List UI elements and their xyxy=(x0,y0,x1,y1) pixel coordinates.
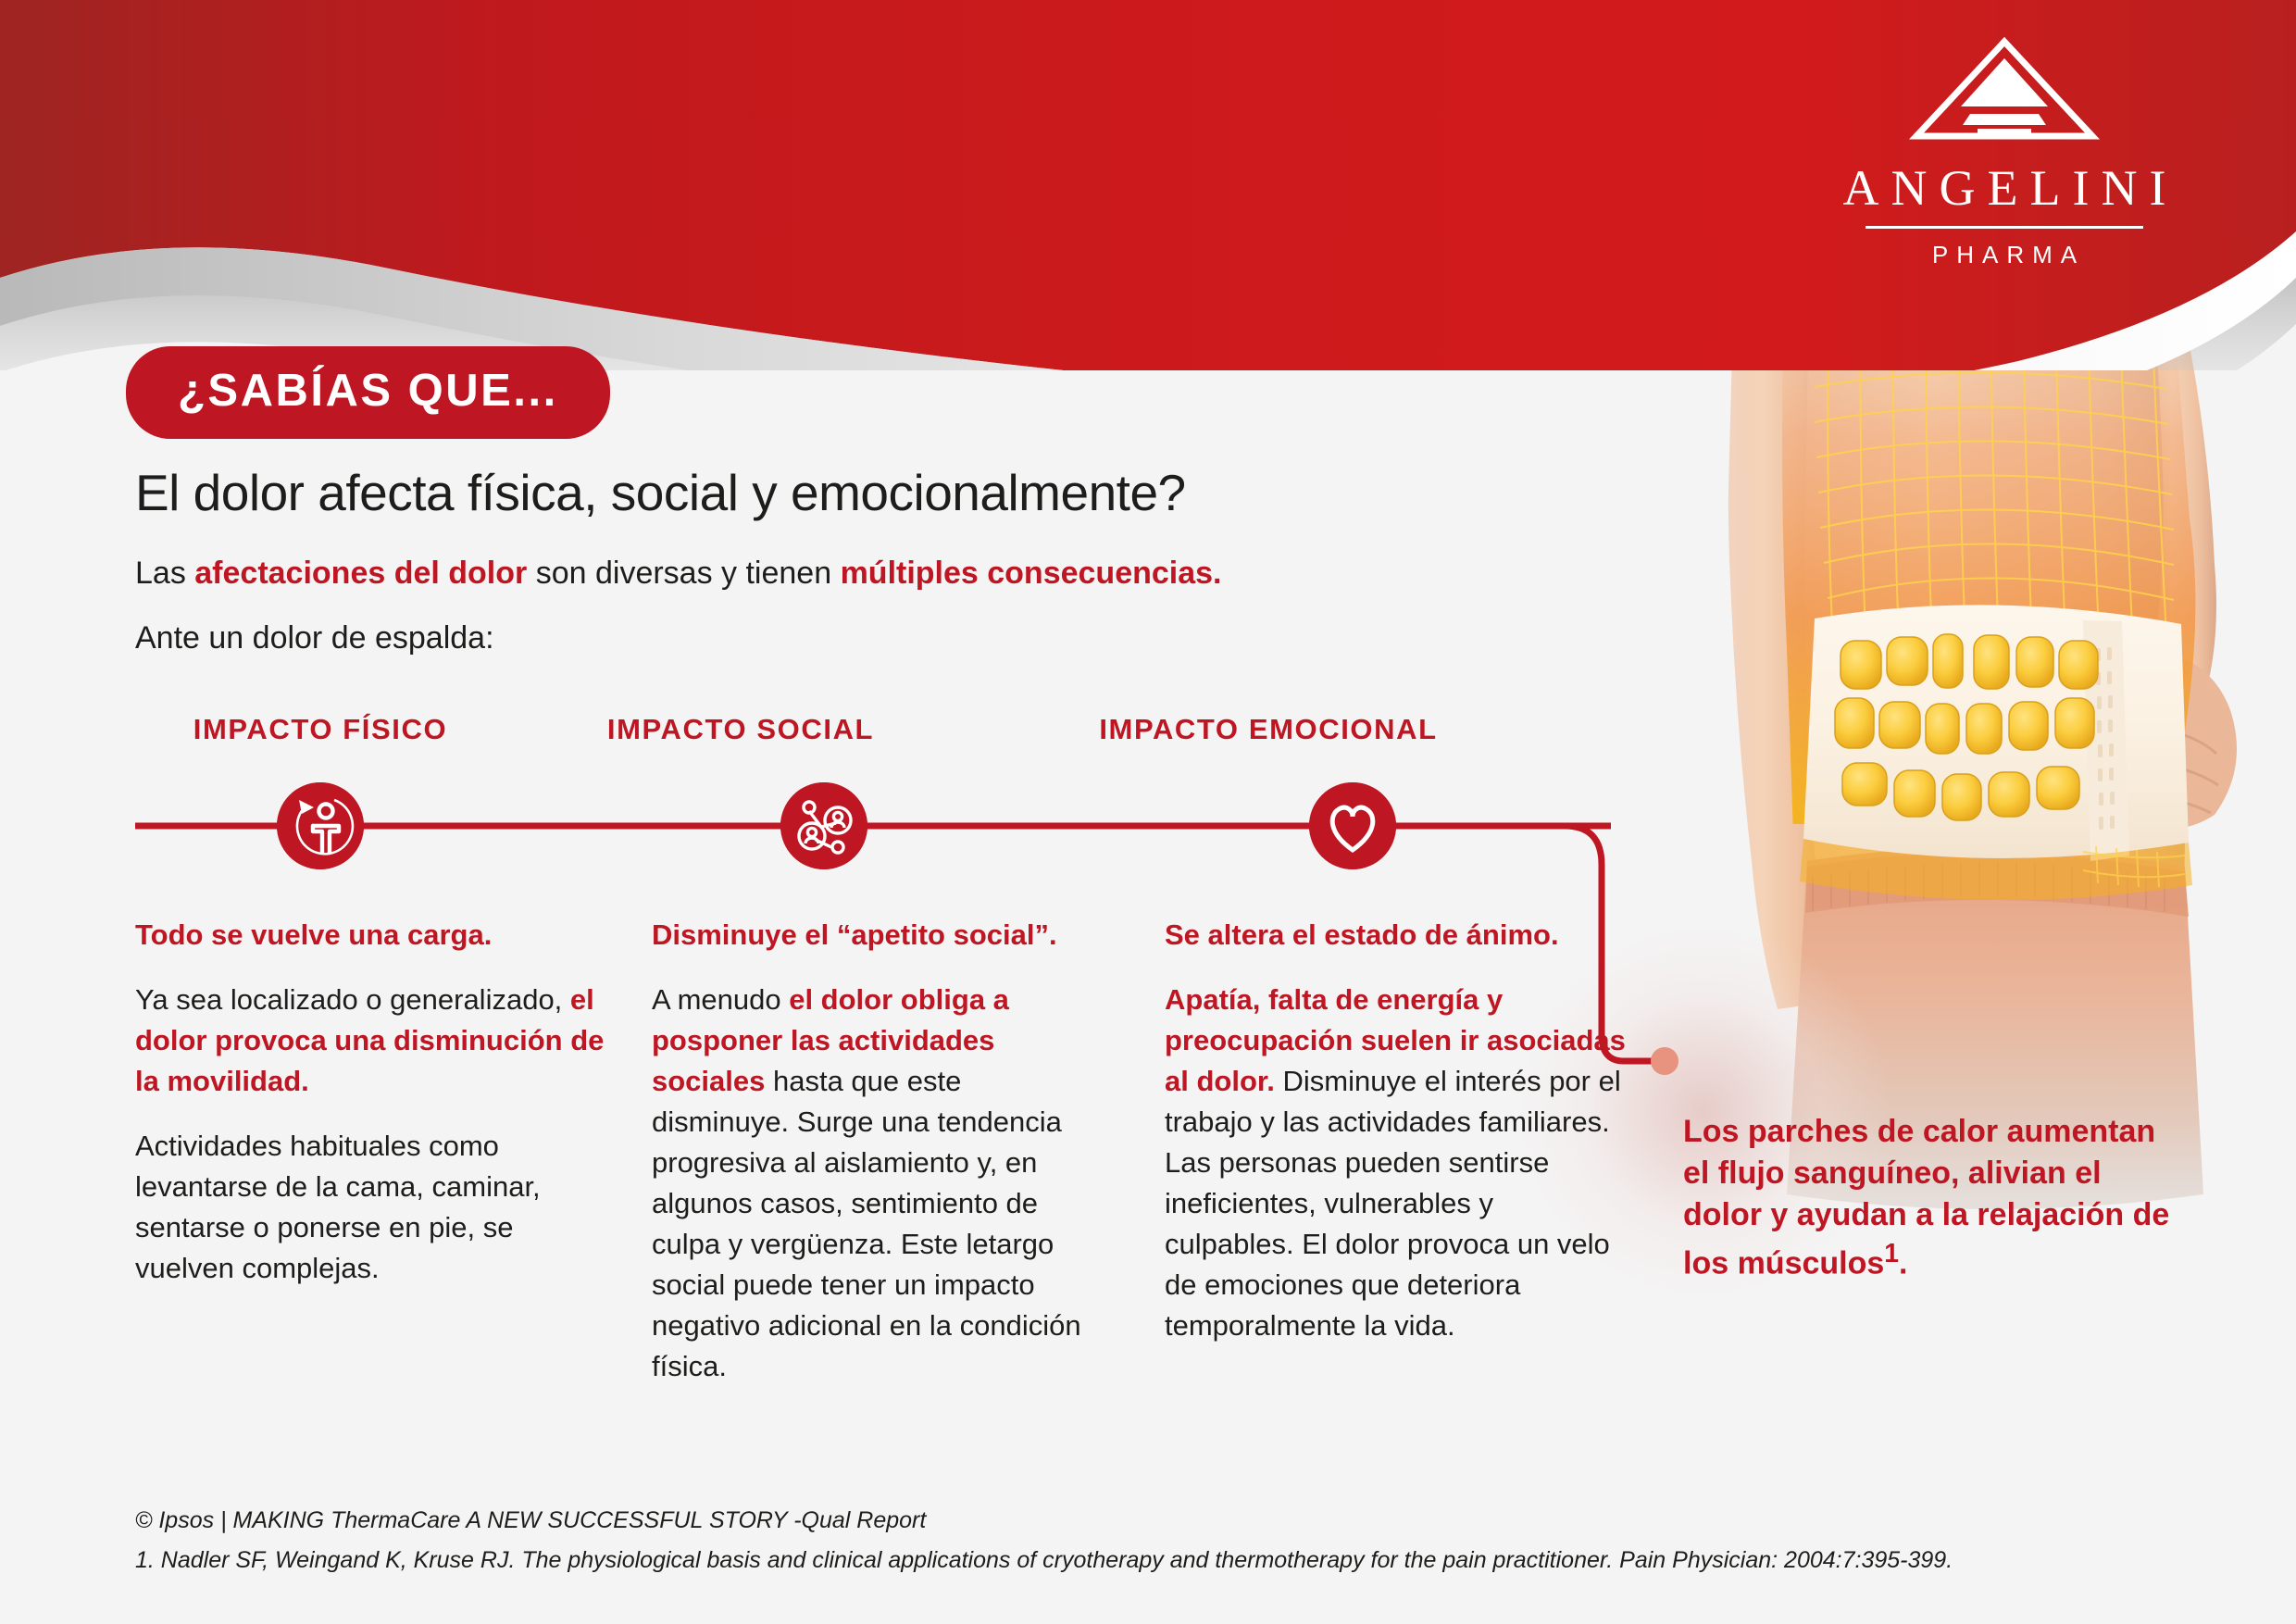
prompt-paragraph: Ante un dolor de espalda: xyxy=(135,620,494,656)
timeline-node-emocional[interactable] xyxy=(1309,782,1396,869)
logo-subtitle: PHARMA xyxy=(1787,241,2222,269)
timeline-node-fisico[interactable] xyxy=(277,782,364,869)
lead-paragraph: Las afectaciones del dolor son diversas … xyxy=(135,556,1222,592)
callout-superscript: 1 xyxy=(1884,1239,1899,1268)
column-3-p1-post: Disminuye el interés por el trabajo y la… xyxy=(1165,1065,1621,1342)
logo-divider xyxy=(1865,226,2143,229)
social-network-icon xyxy=(780,782,867,869)
angelini-triangle-icon xyxy=(1787,32,2222,144)
column-3-paragraph-1: Apatía, falta de energía y preocupación … xyxy=(1165,980,1628,1346)
impact-timeline: IMPACTO FÍSICO IMPACTO SOCIAL IMPACTO EM… xyxy=(0,713,1666,898)
footer-references: © Ipsos | MAKING ThermaCare A NEW SUCCES… xyxy=(135,1507,2218,1574)
column-impacto-fisico: Todo se vuelve una carga. Ya sea localiz… xyxy=(135,915,607,1313)
column-1-title: Todo se vuelve una carga. xyxy=(135,915,607,956)
sabias-que-badge: ¿SABÍAS QUE... xyxy=(126,346,610,439)
person-rotate-icon xyxy=(277,782,364,869)
column-2-p1-post: hasta que este disminuye. Surge una tend… xyxy=(652,1065,1081,1382)
footer-source: © Ipsos | MAKING ThermaCare A NEW SUCCES… xyxy=(135,1507,2218,1534)
lead-text-pre: Las xyxy=(135,556,194,591)
angelini-pharma-logo: ANGELINI PHARMA xyxy=(1787,32,2222,255)
timeline-label-emocional: IMPACTO EMOCIONAL xyxy=(1046,713,1491,746)
lead-highlight-2: múltiples consecuencias. xyxy=(841,556,1222,591)
column-1-paragraph-1: Ya sea localizado o generalizado, el dol… xyxy=(135,980,607,1102)
column-1-p1-pre: Ya sea localizado o generalizado, xyxy=(135,983,570,1016)
timeline-label-social: IMPACTO SOCIAL xyxy=(555,713,926,746)
logo-wordmark: ANGELINI xyxy=(1787,159,2222,217)
column-2-title: Disminuye el “apetito social”. xyxy=(652,915,1105,956)
timeline-label-fisico: IMPACTO FÍSICO xyxy=(135,713,505,746)
column-2-paragraph-1: A menudo el dolor obliga a posponer las … xyxy=(652,980,1105,1387)
page-title: El dolor afecta física, social y emocion… xyxy=(135,463,1186,522)
heart-icon xyxy=(1309,782,1396,869)
column-impacto-emocional: Se altera el estado de ánimo. Apatía, fa… xyxy=(1165,915,1628,1370)
timeline-node-social[interactable] xyxy=(780,782,867,869)
column-impacto-social: Disminuye el “apetito social”. A menudo … xyxy=(652,915,1105,1411)
lead-highlight-1: afectaciones del dolor xyxy=(194,556,527,591)
heat-patch-callout: Los parches de calor aumentan el flujo s… xyxy=(1683,1111,2183,1284)
callout-text: Los parches de calor aumentan el flujo s… xyxy=(1683,1114,2169,1280)
column-3-title: Se altera el estado de ánimo. xyxy=(1165,915,1628,956)
lead-text-mid: son diversas y tienen xyxy=(527,556,840,591)
callout-text-end: . xyxy=(1899,1245,1907,1280)
footer-reference-1: 1. Nadler SF, Weingand K, Kruse RJ. The … xyxy=(135,1547,2218,1574)
column-2-p1-pre: A menudo xyxy=(652,983,789,1016)
column-1-paragraph-2: Actividades habituales como levantarse d… xyxy=(135,1126,607,1289)
